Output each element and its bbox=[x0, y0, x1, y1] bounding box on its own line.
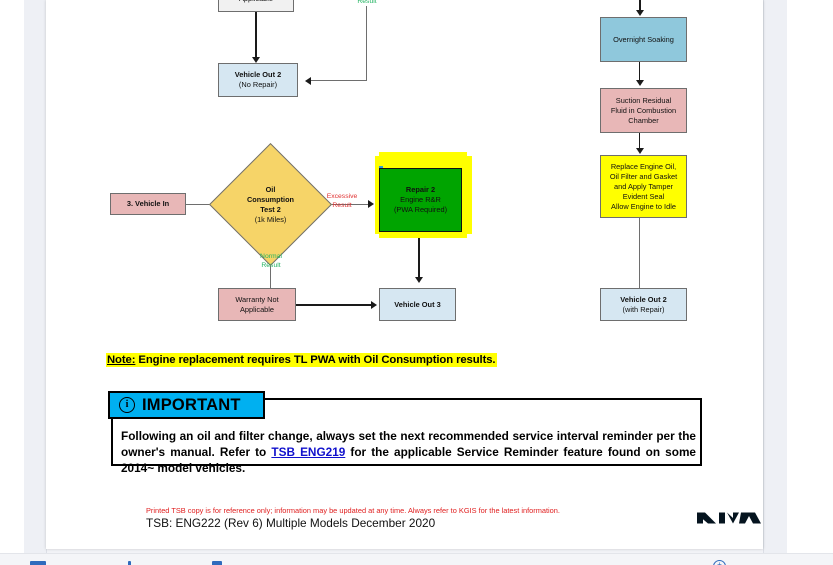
flow-node-vehicle-out-3: Vehicle Out 3 bbox=[379, 288, 456, 321]
flow-edge-result-vertical bbox=[366, 6, 367, 81]
important-badge: i IMPORTANT bbox=[108, 391, 265, 419]
flow-node-sublabel: and Apply Tamper bbox=[614, 182, 673, 192]
flow-edge-label-result-top: Result bbox=[345, 0, 389, 6]
flow-node-sublabel: (PWA Required) bbox=[394, 205, 447, 215]
flow-node-suction-residual-fluid: Suction Residual Fluid in Combustion Cha… bbox=[600, 88, 687, 133]
flow-node-sublabel: Fluid in Combustion bbox=[611, 106, 676, 116]
flow-node-label: Vehicle Out 2 bbox=[620, 295, 666, 305]
flow-node-vehicle-out-2-no-repair: Vehicle Out 2 (No Repair) bbox=[218, 63, 298, 97]
diamond-text: Oil Consumption Test 2 (1k Miles) bbox=[227, 161, 314, 248]
flow-node-label: Overnight Soaking bbox=[613, 35, 674, 45]
flow-edge-overnight-to-suction bbox=[639, 62, 640, 82]
note-label: Note: bbox=[107, 354, 135, 366]
flow-node-label: Replace Engine Oil, bbox=[611, 162, 676, 172]
flow-edge-label-excessive-result: Excessive Result bbox=[314, 192, 370, 210]
kia-logo bbox=[696, 507, 762, 529]
note-highlight: Note: Engine replacement requires TL PWA… bbox=[106, 353, 497, 367]
important-body-text: Following an oil and filter change, alwa… bbox=[121, 428, 696, 477]
viewer-left-gutter bbox=[24, 0, 47, 553]
viewer-toolbar-item[interactable] bbox=[128, 561, 131, 565]
flow-node-label: 3. Vehicle In bbox=[127, 199, 169, 209]
flow-edge-applicable-to-out2 bbox=[255, 12, 257, 59]
note-line: Note: Engine replacement requires TL PWA… bbox=[106, 354, 497, 366]
viewer-left-margin bbox=[0, 0, 24, 553]
flow-node-label: Applicable bbox=[239, 0, 273, 4]
viewer-right-margin bbox=[787, 0, 833, 553]
flow-node-sublabel: (with Repair) bbox=[623, 305, 665, 315]
flow-node-sublabel: Applicable bbox=[240, 305, 274, 315]
flow-arrow-down bbox=[636, 10, 644, 16]
flow-edge-warranty-to-out3 bbox=[296, 304, 372, 306]
flow-arrow-down bbox=[636, 80, 644, 86]
flow-node-sublabel: (No Repair) bbox=[239, 80, 277, 90]
flow-node-applicable-top: Applicable bbox=[218, 0, 294, 12]
edge-label-line-2: Result bbox=[243, 261, 299, 270]
flow-node-label: Vehicle Out 3 bbox=[394, 300, 440, 310]
flow-node-label: Suction Residual bbox=[616, 96, 671, 106]
flow-edge-repair2-to-out3 bbox=[418, 232, 420, 279]
flow-arrow-down bbox=[415, 277, 423, 283]
flow-node-oil-consumption-test-2: Oil Consumption Test 2 (1k Miles) bbox=[227, 161, 314, 248]
footer-disclaimer: Printed TSB copy is for reference only; … bbox=[146, 506, 560, 515]
footer-tsb-line: TSB: ENG222 (Rev 6) Multiple Models Dece… bbox=[146, 516, 435, 530]
flow-node-label: Repair 2 bbox=[406, 185, 435, 195]
viewer-right-gutter bbox=[763, 0, 788, 553]
flow-node-label: Test 2 bbox=[260, 205, 281, 215]
important-badge-label: IMPORTANT bbox=[142, 396, 241, 415]
flow-node-sublabel: (1k Miles) bbox=[255, 215, 287, 225]
flow-arrow-down bbox=[636, 148, 644, 154]
viewer-toolbar-item[interactable] bbox=[212, 561, 222, 565]
flow-node-warranty-not-applicable: Warranty Not Applicable bbox=[218, 288, 296, 321]
flow-node-sublabel: Allow Engine to Idle bbox=[611, 202, 676, 212]
flow-edge-label-normal-result: Normal Result bbox=[243, 252, 299, 270]
viewer-toolbar-item[interactable] bbox=[30, 561, 46, 565]
flow-node-repair-2-engine-rr: Repair 2 Engine R&R (PWA Required) bbox=[379, 168, 462, 232]
flow-node-replace-engine-oil: Replace Engine Oil, Oil Filter and Gaske… bbox=[600, 155, 687, 218]
flow-arrow-right bbox=[371, 301, 377, 309]
flow-node-label: Vehicle Out 2 bbox=[235, 70, 281, 80]
flow-edge-result-horizontal bbox=[311, 80, 367, 81]
flow-node-label: Oil bbox=[266, 185, 276, 195]
flow-node-overnight-soaking: Overnight Soaking bbox=[600, 17, 687, 62]
zoom-in-icon[interactable]: + bbox=[713, 560, 726, 565]
flow-node-sublabel: Evident Seal bbox=[623, 192, 665, 202]
pdf-viewer[interactable]: Applicable Result Vehicle Out 2 (No Repa… bbox=[0, 0, 833, 565]
flow-node-label: Consumption bbox=[247, 195, 294, 205]
flow-node-vehicle-in-3: 3. Vehicle In bbox=[110, 193, 186, 215]
pdf-page[interactable]: Applicable Result Vehicle Out 2 (No Repa… bbox=[46, 0, 763, 549]
flow-edge-replace-to-out2 bbox=[639, 218, 640, 288]
note-text: Engine replacement requires TL PWA with … bbox=[135, 354, 495, 366]
flow-node-sublabel: Oil Filter and Gasket bbox=[610, 172, 677, 182]
edge-label-line-2: Result bbox=[314, 201, 370, 210]
flow-node-sublabel: Engine R&R bbox=[400, 195, 441, 205]
edge-label-line-1: Normal bbox=[243, 252, 299, 261]
flow-node-vehicle-out-2-with-repair: Vehicle Out 2 (with Repair) bbox=[600, 288, 687, 321]
viewer-bottom-toolbar[interactable]: + bbox=[0, 553, 833, 565]
edge-label-line-1: Excessive bbox=[314, 192, 370, 201]
flow-node-label: Warranty Not bbox=[235, 295, 278, 305]
flow-arrow-left bbox=[305, 77, 311, 85]
tsb-eng219-link[interactable]: TSB ENG219 bbox=[271, 445, 345, 459]
info-circle-icon: i bbox=[119, 397, 135, 413]
flow-node-sublabel: Chamber bbox=[628, 116, 658, 126]
